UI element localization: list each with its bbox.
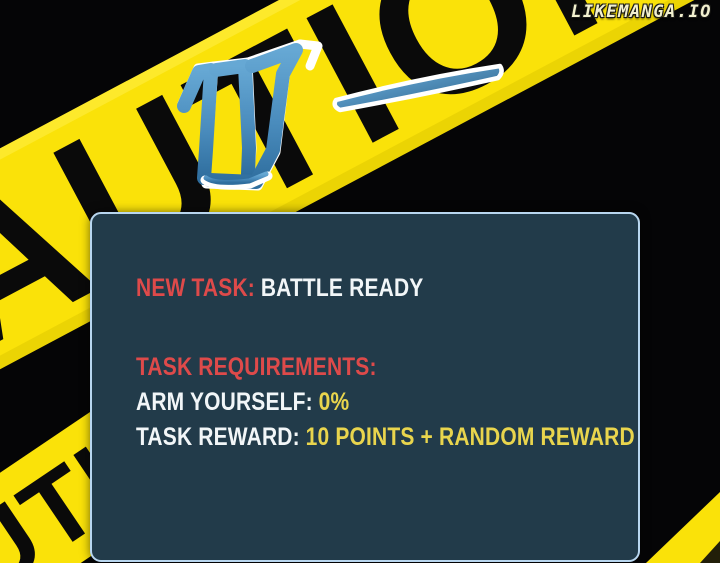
new-task-label: NEW TASK:	[136, 274, 255, 302]
new-task-value: BATTLE READY	[261, 274, 424, 302]
manga-panel: CAUTION CAUTIO	[0, 0, 720, 563]
dialog-spacer	[136, 301, 618, 345]
task-dialog-content: NEW TASK:BATTLE READY TASK REQUIREMENTS:…	[136, 276, 618, 450]
task-dialog-box: NEW TASK:BATTLE READY TASK REQUIREMENTS:…	[90, 212, 640, 562]
task-requirements-heading: TASK REQUIREMENTS:	[136, 353, 377, 381]
arm-yourself-value: 0%	[319, 388, 350, 416]
arm-yourself-row: ARM YOURSELF:0%	[136, 390, 541, 415]
task-reward-label: TASK REWARD:	[136, 423, 300, 451]
task-requirements-heading-line: TASK REQUIREMENTS:	[136, 355, 541, 380]
site-watermark: LIKEMANGA.IO	[571, 2, 712, 22]
new-task-line: NEW TASK:BATTLE READY	[136, 276, 541, 301]
task-reward-value: 10 POINTS + RANDOM REWARD	[306, 423, 635, 451]
task-reward-row: TASK REWARD:10 POINTS + RANDOM REWARD	[136, 425, 541, 450]
arm-yourself-label: ARM YOURSELF:	[136, 388, 313, 416]
